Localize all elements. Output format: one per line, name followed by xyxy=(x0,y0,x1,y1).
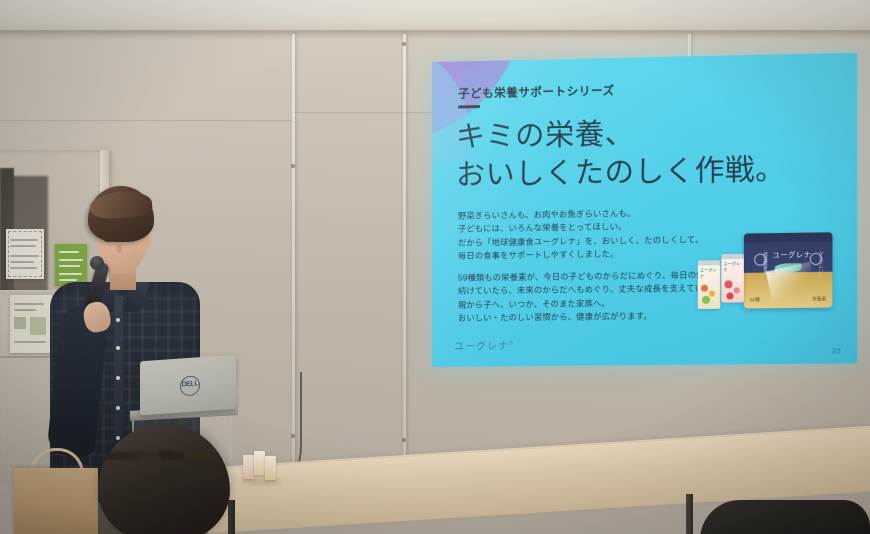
pouch-foot-right: 栄養素 xyxy=(812,296,826,302)
shirt-button xyxy=(116,318,120,322)
slide-brand-logo-text: ユーグレナ xyxy=(454,341,509,353)
product-carton-image: ユーグレナ xyxy=(698,260,721,309)
poster-border xyxy=(8,231,42,277)
poster-text-line xyxy=(10,239,38,241)
product-sample xyxy=(254,451,265,475)
audience-shoulder xyxy=(700,500,870,534)
carton-cap xyxy=(698,260,721,265)
poster-text-line xyxy=(10,261,34,263)
poster-text-line xyxy=(10,245,36,247)
pouch-foot-left: 59種 xyxy=(750,297,760,303)
poster-text-line xyxy=(14,309,36,311)
poster-text-line xyxy=(10,255,39,257)
ceiling xyxy=(0,0,870,34)
seam-screw xyxy=(291,164,295,168)
dell-logo-icon: DELL xyxy=(180,375,200,396)
presenter-nose xyxy=(117,244,122,253)
paper-bag xyxy=(14,468,98,534)
carton-fruit-icon xyxy=(701,285,708,292)
slide-brand-logo: ユーグレナ® xyxy=(454,337,514,353)
carton-cap xyxy=(721,254,744,259)
poster-text-line xyxy=(10,267,37,269)
carton-fruit-icon xyxy=(724,280,732,288)
product-pouch-image: 地球健康食 からだにいい ユーグレナ 59種 栄養素 xyxy=(744,232,833,308)
laptop: DELL xyxy=(140,355,236,416)
slide-headline: キミの栄養、 おいしくたのしく作戦。 xyxy=(456,113,786,195)
wall-panel-line xyxy=(0,120,292,121)
carton-fruit-icon xyxy=(734,287,740,293)
wall-seam xyxy=(403,34,406,504)
product-sample xyxy=(265,456,276,480)
slide-paragraph-1: 野菜ぎらいさんも、お肉やお魚ぎらいさんも。 子どもには、いろんな栄養をとってほし… xyxy=(458,206,703,263)
projected-slide: 子ども栄養サポートシリーズ キミの栄養、 おいしくたのしく作戦。 野菜ぎらいさん… xyxy=(432,53,857,367)
pouch-seal xyxy=(744,232,833,242)
carton-fruit-icon xyxy=(726,292,733,299)
registered-mark-icon: ® xyxy=(509,341,514,347)
shirt-button xyxy=(116,376,120,380)
slide-page-number: 23 xyxy=(832,346,841,355)
carton-label: ユーグレナ xyxy=(700,267,720,279)
pouch-swoosh-graphic xyxy=(766,262,817,302)
audience-hair xyxy=(104,420,228,460)
table-leg xyxy=(686,494,693,534)
seam-screw xyxy=(402,42,406,46)
carton-fruit-icon xyxy=(702,296,710,304)
presentation-photo: 子ども栄養サポートシリーズ キミの栄養、 おいしくたのしく作戦。 野菜ぎらいさん… xyxy=(0,0,870,534)
seam-screw xyxy=(402,438,406,442)
slide-eyebrow-rule xyxy=(458,105,480,108)
shirt-button xyxy=(116,346,120,350)
product-sample xyxy=(243,455,254,479)
carton-label: ユーグレナ xyxy=(723,261,744,273)
ceiling-shadow xyxy=(0,30,870,40)
pouch-brand-name: ユーグレナ xyxy=(773,250,812,261)
product-carton-image: ユーグレナ xyxy=(721,254,744,303)
poster-image xyxy=(14,317,26,329)
carton-fruit-icon xyxy=(709,291,715,297)
slide-eyebrow: 子ども栄養サポートシリーズ xyxy=(458,82,615,101)
table-leg xyxy=(228,500,235,534)
